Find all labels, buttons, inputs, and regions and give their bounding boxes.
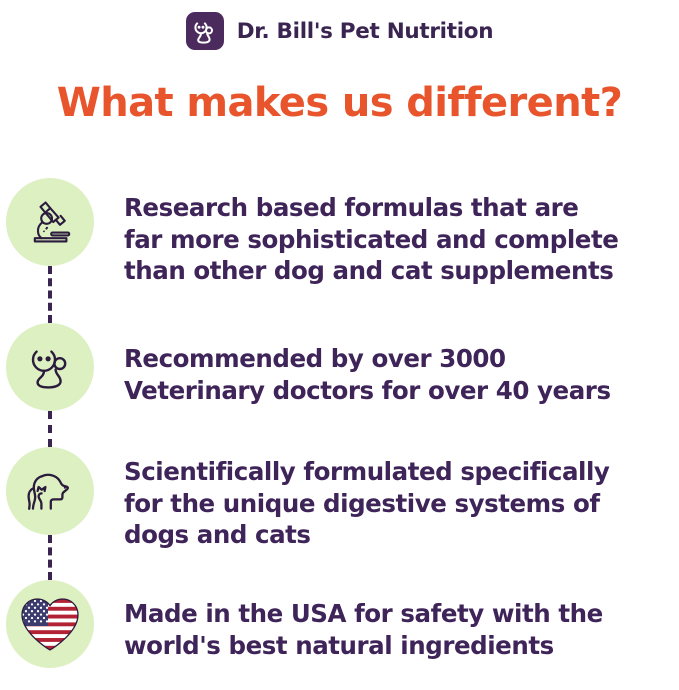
feature-list: Research based formulas that are far mor… <box>0 178 679 675</box>
icon-column <box>0 447 100 535</box>
feature-line: Scientifically formulated specifically <box>124 456 675 488</box>
feature-line: Veterinary doctors for over 40 years <box>124 375 675 407</box>
feature-line: for the unique digestive systems of <box>124 488 675 520</box>
brand-name: Dr. Bill's Pet Nutrition <box>237 19 494 44</box>
feature-line: Research based formulas that are <box>124 192 675 224</box>
usa-flag-heart-icon <box>6 580 94 668</box>
icon-column <box>0 178 100 266</box>
icon-column <box>0 580 100 668</box>
feature-text: Scientifically formulated specifically f… <box>100 447 679 551</box>
timeline-connector <box>48 535 52 580</box>
dog-and-cat-icon <box>6 447 94 535</box>
microscope-icon <box>6 178 94 266</box>
feature-line: than other dog and cat supplements <box>124 255 675 287</box>
feature-line: Recommended by over 3000 <box>124 343 675 375</box>
page-title: What makes us different? <box>0 80 679 126</box>
timeline-connector <box>48 266 52 323</box>
feature-line: world's best natural ingredients <box>124 630 675 662</box>
feature-text: Made in the USA for safety with the worl… <box>100 580 679 661</box>
feature-line: Made in the USA for safety with the <box>124 598 675 630</box>
brand-header: Dr. Bill's Pet Nutrition <box>0 8 679 54</box>
list-item: Scientifically formulated specifically f… <box>0 447 679 580</box>
list-item: Research based formulas that are far mor… <box>0 178 679 323</box>
icon-column <box>0 323 100 411</box>
timeline-connector <box>48 411 52 447</box>
list-item: Recommended by over 3000 Veterinary doct… <box>0 323 679 447</box>
feature-line: dogs and cats <box>124 519 675 551</box>
stethoscope-pet-face-icon <box>186 12 224 50</box>
stethoscope-pet-face-icon <box>6 323 94 411</box>
feature-line: far more sophisticated and complete <box>124 224 675 256</box>
feature-text: Recommended by over 3000 Veterinary doct… <box>100 323 679 406</box>
feature-text: Research based formulas that are far mor… <box>100 178 679 287</box>
list-item: Made in the USA for safety with the worl… <box>0 580 679 675</box>
